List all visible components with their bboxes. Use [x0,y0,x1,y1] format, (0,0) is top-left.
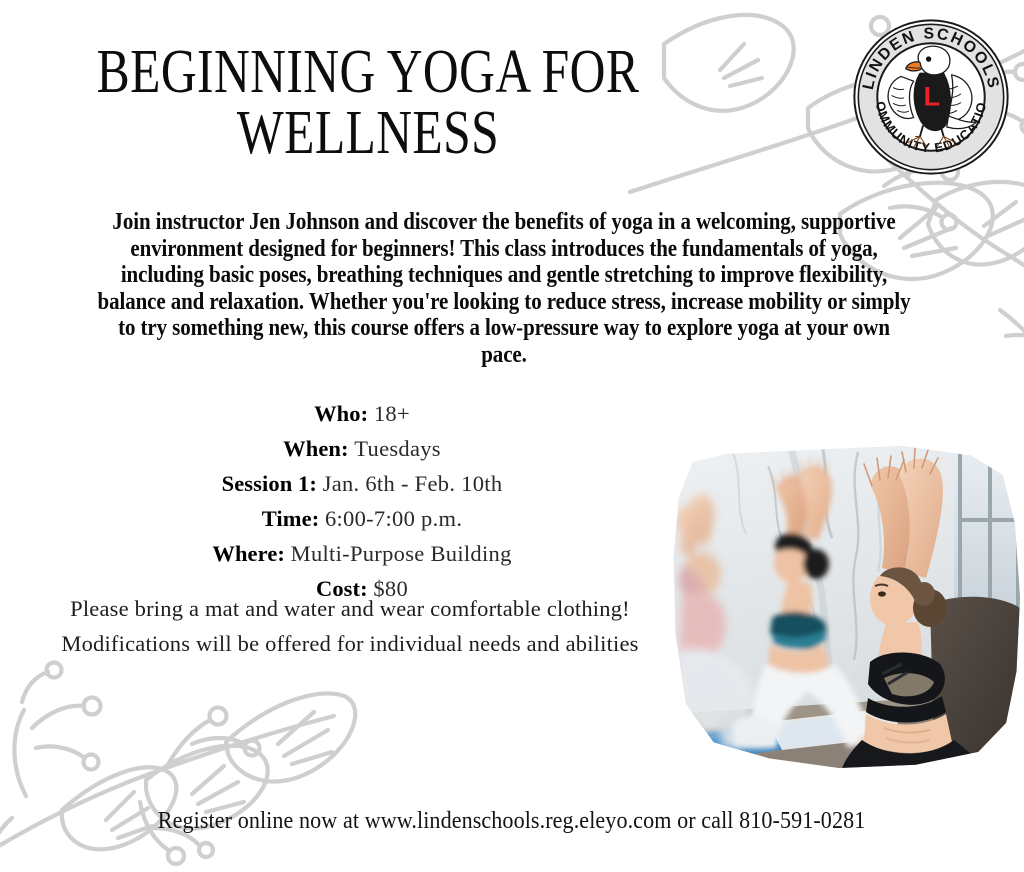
detail-value: Jan. 6th - Feb. 10th [323,471,503,496]
flyer-canvas: LINDEN SCHOOLS COMMUNITY EDUCATION [0,0,1024,858]
detail-value: 18+ [374,401,410,426]
detail-value: Multi-Purpose Building [291,541,512,566]
logo-monogram: L [924,82,940,112]
title-line-1: BEGINNING YOGA FOR [88,42,648,103]
detail-label: Where: [212,541,285,566]
detail-row-who: Who: 18+ [20,396,704,431]
detail-label: When: [283,436,349,461]
detail-value: Tuesdays [354,436,441,461]
detail-row-session: Session 1: Jan. 6th - Feb. 10th [20,466,704,501]
page-title: BEGINNING YOGA FOR WELLNESS [18,42,718,164]
note-line-modifications: Modifications will be offered for indivi… [8,627,692,662]
photo-illustration [672,446,1020,768]
footer: Register online now at www.lindenschools… [0,808,1024,835]
note-line-bring: Please bring a mat and water and wear co… [8,592,692,627]
title-line-2: WELLNESS [88,103,648,164]
course-notes: Please bring a mat and water and wear co… [8,592,692,662]
branch-bottom-left-icon [0,632,386,872]
detail-row-when: When: Tuesdays [20,431,704,466]
detail-row-time: Time: 6:00-7:00 p.m. [20,501,704,536]
yoga-class-photo [672,446,1020,768]
linden-schools-logo: LINDEN SCHOOLS COMMUNITY EDUCATION [852,18,1010,176]
detail-value: 6:00-7:00 p.m. [325,506,462,531]
logo-seal-icon: LINDEN SCHOOLS COMMUNITY EDUCATION [852,18,1010,176]
detail-label: Time: [262,506,320,531]
photo-clip-mask [672,446,1020,768]
detail-label: Session 1: [222,471,317,496]
intro-paragraph: Join instructor Jen Johnson and discover… [97,209,911,368]
detail-label: Who: [314,401,368,426]
detail-row-where: Where: Multi-Purpose Building [20,536,704,571]
register-info-text: Register online now at www.lindenschools… [158,808,866,835]
course-details-list: Who: 18+ When: Tuesdays Session 1: Jan. … [20,396,704,607]
